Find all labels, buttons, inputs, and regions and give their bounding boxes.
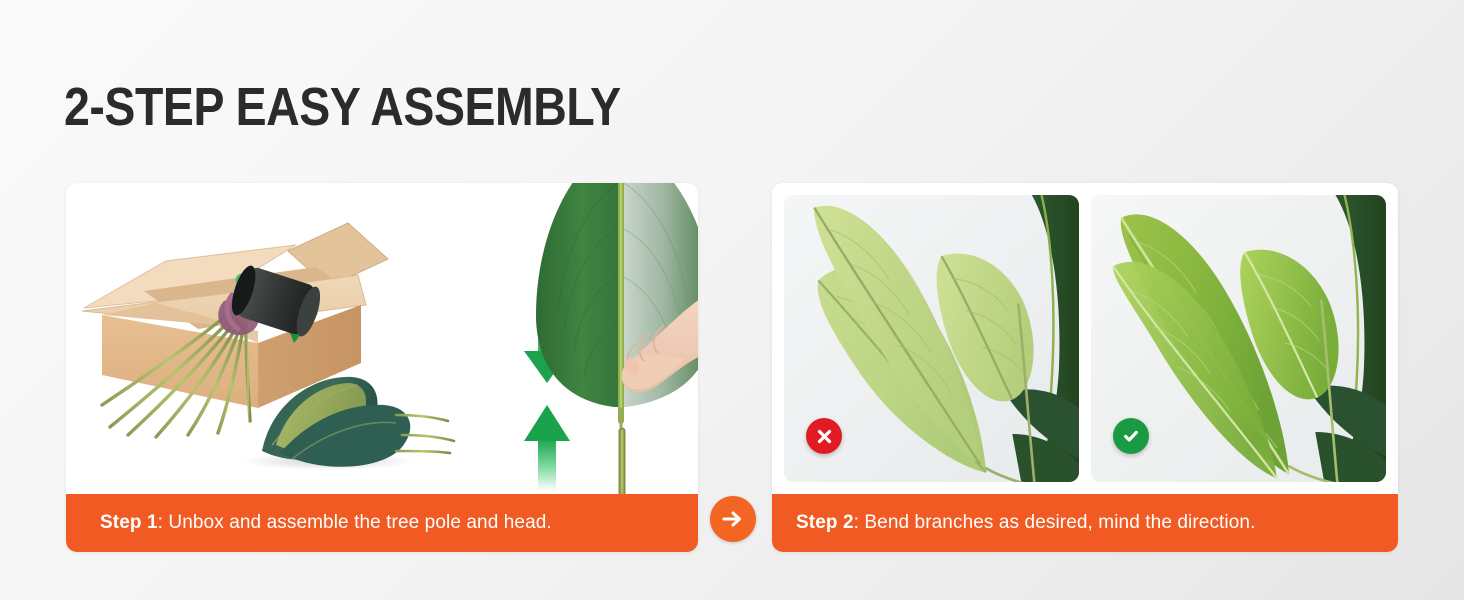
status-badge-right xyxy=(1113,418,1149,454)
step-2-illustration xyxy=(772,183,1398,494)
arrow-right-icon xyxy=(722,510,744,528)
step-1-illustration xyxy=(66,183,698,494)
status-badge-wrong xyxy=(806,418,842,454)
step-1-label: Step 1 xyxy=(100,512,158,533)
cross-icon xyxy=(816,428,833,445)
comparison-wrong xyxy=(784,195,1079,482)
step-1-panel: Step 1: Unbox and assemble the tree pole… xyxy=(66,183,698,552)
step-1-text: Unbox and assemble the tree pole and hea… xyxy=(163,512,552,533)
step-2-label: Step 2 xyxy=(796,512,854,533)
step-2-text: Bend branches as desired, mind the direc… xyxy=(859,512,1255,533)
step-1-artwork xyxy=(66,183,698,494)
hand-holding-stem-icon xyxy=(536,183,698,494)
page-title: 2-STEP EASY ASSEMBLY xyxy=(64,78,621,136)
step-1-caption: Step 1: Unbox and assemble the tree pole… xyxy=(66,494,698,552)
check-icon xyxy=(1122,427,1140,445)
step-2-caption: Step 2: Bend branches as desired, mind t… xyxy=(772,494,1398,552)
step-2-panel: Step 2: Bend branches as desired, mind t… xyxy=(772,183,1398,552)
comparison-right xyxy=(1091,195,1386,482)
step-connector xyxy=(710,496,756,542)
infographic-root: 2-STEP EASY ASSEMBLY xyxy=(0,0,1464,600)
